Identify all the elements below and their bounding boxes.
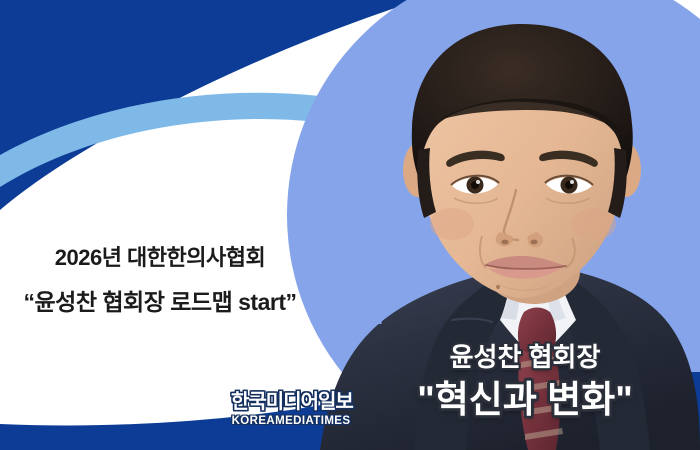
press-logo[interactable]: 한국미디어일보 KOREAMEDIATIMES bbox=[231, 390, 351, 428]
press-logo-korean: 한국미디어일보 bbox=[231, 390, 351, 414]
overlay-caption-name: 윤성찬 협회장 bbox=[360, 341, 690, 373]
news-banner-card: 2026년 대한한의사협회 “윤성찬 협회장 로드맵 start” 윤성찬 협회… bbox=[0, 0, 700, 450]
headline-line-1: 2026년 대한한의사협회 bbox=[0, 243, 320, 273]
overlay-caption-slogan: "혁신과 변화" bbox=[360, 377, 690, 423]
press-logo-english: KOREAMEDIATIMES bbox=[231, 414, 351, 428]
headline-line-2: “윤성찬 협회장 로드맵 start” bbox=[0, 286, 320, 318]
